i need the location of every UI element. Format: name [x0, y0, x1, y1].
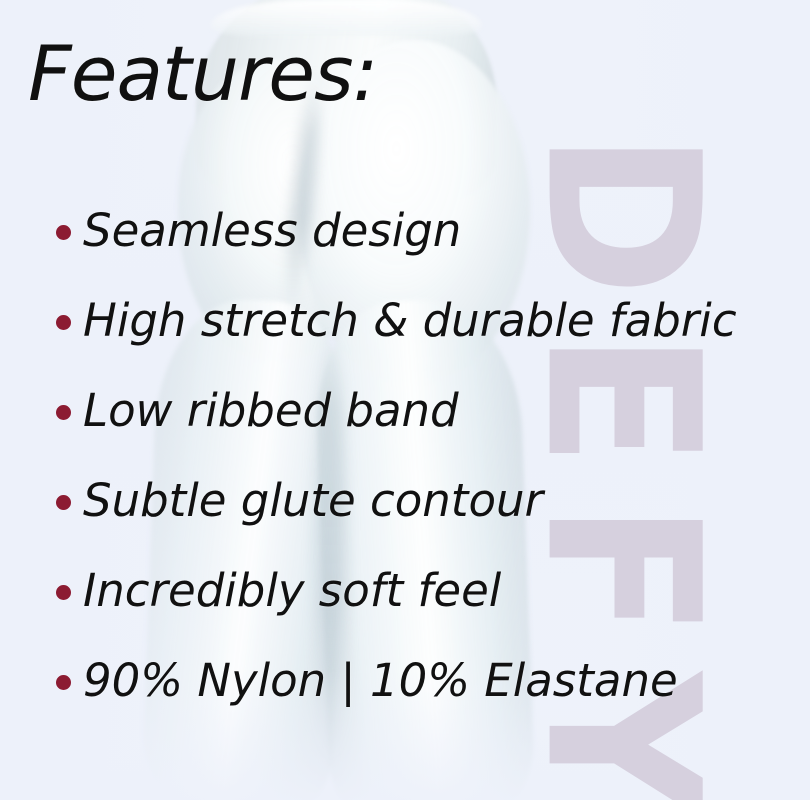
list-item: Subtle glute contour	[56, 456, 776, 546]
page-title: Features:	[28, 36, 377, 112]
feature-label: Seamless design	[83, 207, 461, 254]
list-item: High stretch & durable fabric	[56, 276, 776, 366]
bullet-dot-icon	[56, 675, 71, 690]
bullet-dot-icon	[56, 495, 71, 510]
bullet-dot-icon	[56, 225, 71, 240]
content-layer: Features: Seamless design High stretch &…	[0, 0, 810, 800]
bullet-dot-icon	[56, 315, 71, 330]
bullet-dot-icon	[56, 405, 71, 420]
bullet-dot-icon	[56, 585, 71, 600]
feature-list: Seamless design High stretch & durable f…	[56, 186, 776, 726]
feature-label: Subtle glute contour	[83, 477, 543, 524]
feature-label: Incredibly soft feel	[83, 567, 501, 614]
product-feature-graphic: DEFY Features: Seamless design High stre…	[0, 0, 810, 800]
list-item: Incredibly soft feel	[56, 546, 776, 636]
list-item: 90% Nylon | 10% Elastane	[56, 636, 776, 726]
feature-label: 90% Nylon | 10% Elastane	[83, 657, 678, 704]
feature-label: High stretch & durable fabric	[83, 297, 737, 344]
list-item: Seamless design	[56, 186, 776, 276]
feature-label: Low ribbed band	[83, 387, 459, 434]
list-item: Low ribbed band	[56, 366, 776, 456]
